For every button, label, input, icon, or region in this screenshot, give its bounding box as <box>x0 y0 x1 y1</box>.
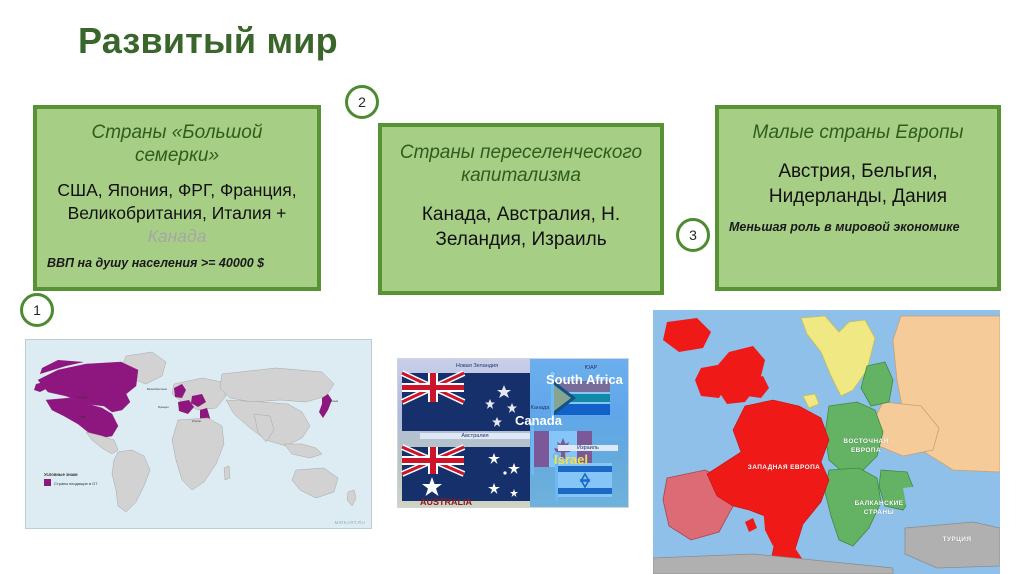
world-map-label-uk: Великобритания <box>147 388 167 391</box>
info-box-g7-note: ВВП на душу населения >= 40000 $ <box>47 256 307 272</box>
info-box-settler-header: Страны переселенческого капитализма <box>392 141 650 187</box>
world-map-svg <box>26 340 372 529</box>
callout-badge-2[interactable]: 2 <box>345 85 379 119</box>
info-box-small-body: Австрия, Бельгия, Нидерланды, Дания <box>729 160 987 209</box>
info-box-g7-body-muted: Канада <box>148 226 207 246</box>
callout-badge-1[interactable]: 1 <box>20 293 54 327</box>
world-map-label-japan: Япония <box>329 400 338 403</box>
europe-label-eastern-europe: ВОСТОЧНАЯ ЕВРОПА <box>831 438 901 456</box>
flag-label-canada: Canada <box>515 413 562 428</box>
europe-regions-map-image[interactable]: ЗАПАДНАЯ ЕВРОПА ВОСТОЧНАЯ ЕВРОПА БАЛКАНС… <box>653 310 1000 574</box>
world-map-label-france: Франция <box>158 406 169 409</box>
world-map-label-canada: Канада <box>78 396 87 399</box>
europe-map-svg <box>653 310 1000 574</box>
flag-label-israel: Israel <box>554 452 588 467</box>
info-box-g7-body-main: США, Япония, ФРГ, Франция, Великобритани… <box>57 180 296 223</box>
world-map-g7-image[interactable]: Канада США Великобритания Франция Италия… <box>25 339 372 529</box>
europe-label-balkan-countries: БАЛКАНСКИЕ СТРАНЫ <box>839 500 919 518</box>
world-map-label-usa: США <box>80 416 86 419</box>
info-box-small-note: Меньшая роль в мировой экономике <box>729 220 987 236</box>
europe-label-western-europe: ЗАПАДНАЯ ЕВРОПА <box>729 464 839 473</box>
world-map-legend-item: Страны входящие в G7 <box>54 481 98 486</box>
world-map-label-italy: Италия <box>192 420 201 423</box>
flag-caption-canada: Канада <box>510 405 570 411</box>
info-box-settler-body: Канада, Австралия, Н. Зеландия, Израиль <box>392 203 650 252</box>
flag-label-south-africa: South Africa <box>546 372 623 387</box>
callout-badge-3[interactable]: 3 <box>676 218 710 252</box>
info-box-g7[interactable]: Страны «Большой семерки» США, Япония, ФР… <box>33 105 321 291</box>
flag-caption-israel: Израиль <box>558 445 618 451</box>
slide-canvas: Развитый мир Страны «Большой семерки» СШ… <box>0 0 1024 574</box>
page-title: Развитый мир <box>78 20 338 62</box>
flag-caption-australia: Австралия <box>420 433 530 439</box>
flag-caption-south-africa: ЮАР <box>566 365 616 371</box>
world-map-legend-title: Условные знаки <box>44 472 98 477</box>
info-box-g7-header: Страны «Большой семерки» <box>47 121 307 167</box>
info-box-small-header: Малые страны Европы <box>729 121 987 144</box>
flag-label-australia: AUSTRALIA <box>420 497 472 507</box>
info-box-settler-capitalism[interactable]: Страны переселенческого капитализма Кана… <box>378 123 664 295</box>
world-map-legend: Условные знаки Страны входящие в G7 <box>44 472 98 486</box>
world-map-credit: MIRKART.RU <box>335 520 365 525</box>
info-box-g7-body: США, Япония, ФРГ, Франция, Великобритани… <box>47 179 307 247</box>
info-box-small-european-countries[interactable]: Малые страны Европы Австрия, Бельгия, Ни… <box>715 105 1001 291</box>
world-map-legend-swatch <box>44 479 51 486</box>
flags-collage-image[interactable]: Новая Зеландия <box>397 358 629 508</box>
europe-label-turkey: ТУРЦИЯ <box>927 536 987 545</box>
